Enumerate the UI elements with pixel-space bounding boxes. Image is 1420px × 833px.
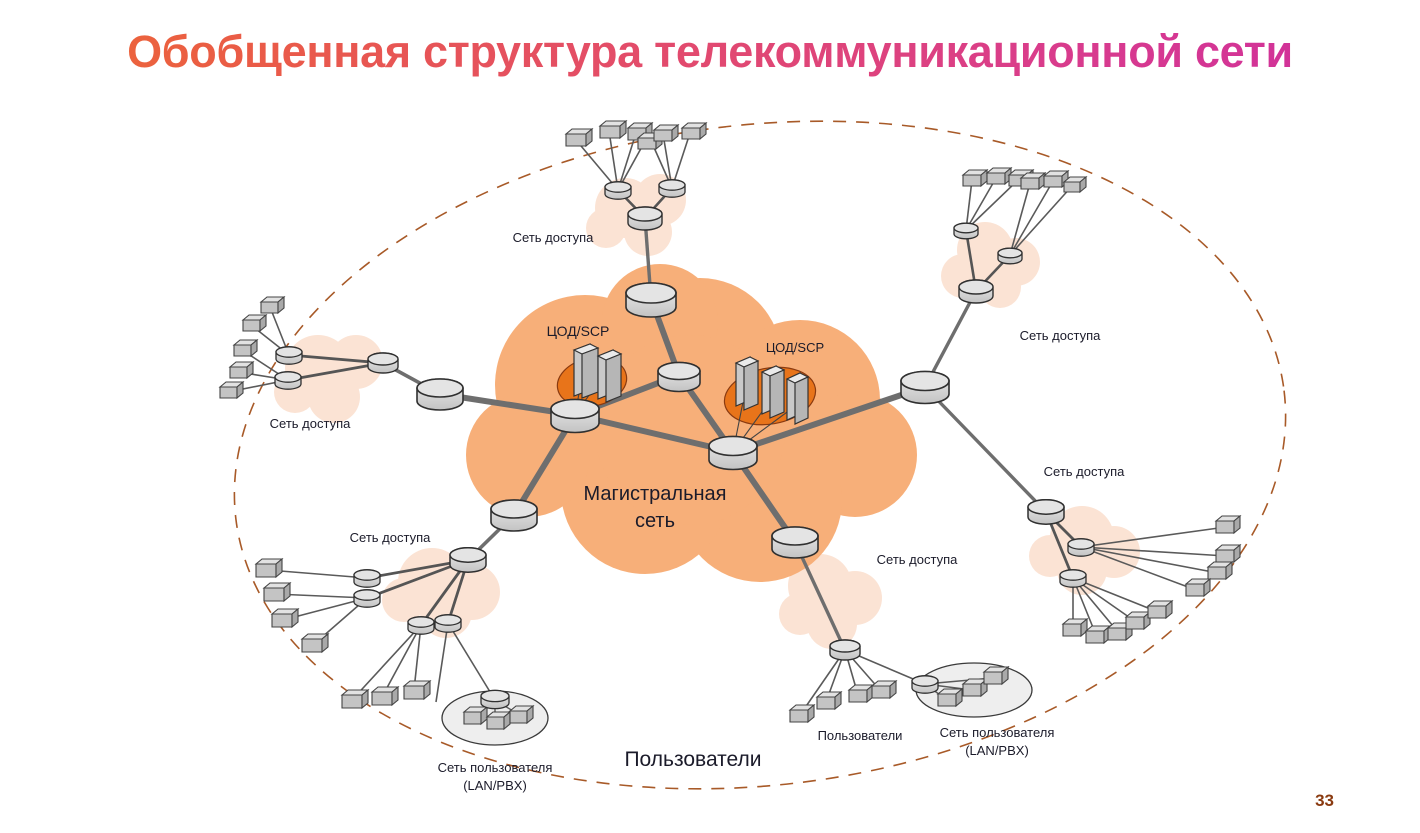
access-network-label-top: Сеть доступа xyxy=(513,230,594,245)
users-label-main: Пользователи xyxy=(624,748,761,771)
lan-host-box xyxy=(938,689,962,706)
router-node xyxy=(658,363,700,392)
access-edge-node xyxy=(435,615,461,632)
user-network-label-line2: (LAN/PBX) xyxy=(463,778,527,793)
host-box xyxy=(963,170,987,186)
host-box xyxy=(872,681,896,698)
access-gateway-node xyxy=(368,353,398,373)
host-box xyxy=(790,705,814,722)
access-gateway-node xyxy=(959,280,993,303)
host-box xyxy=(264,583,290,601)
host-box xyxy=(1216,516,1240,533)
host-box xyxy=(1148,601,1172,618)
access-network-label-right: Сеть доступа xyxy=(1044,464,1125,479)
slide-canvas: Обобщенная структура телекоммуникационно… xyxy=(0,0,1420,833)
router-node xyxy=(709,437,757,470)
host-box xyxy=(1063,619,1087,636)
access-network-label-bottomright: Сеть доступа xyxy=(877,552,958,567)
user-network-label-line1: Сеть пользователя xyxy=(438,760,553,775)
host-box xyxy=(1064,177,1086,192)
access-edge-node xyxy=(998,248,1022,264)
access-gateway-node xyxy=(450,548,486,572)
access-edge-node xyxy=(1060,570,1086,587)
access-edge-node xyxy=(275,372,301,389)
host-box xyxy=(220,382,243,398)
access-network-label-bottomleft: Сеть доступа xyxy=(350,530,431,545)
backbone-label-line2: сеть xyxy=(635,510,675,532)
access-edge-node xyxy=(354,590,380,607)
access-edge-node xyxy=(605,182,631,199)
host-box xyxy=(1126,612,1150,629)
host-box xyxy=(1216,545,1240,562)
access-gateway-node xyxy=(628,207,662,230)
access-edge-node xyxy=(408,617,434,634)
host-box xyxy=(1186,579,1210,596)
host-box xyxy=(817,692,841,709)
host-box xyxy=(654,125,678,141)
host-box xyxy=(256,559,282,577)
host-box xyxy=(372,687,398,705)
lan-host-box xyxy=(984,667,1008,684)
lan-host-box xyxy=(464,707,487,724)
lan-router-node xyxy=(481,690,509,708)
access-edge-node xyxy=(1068,539,1094,556)
host-box xyxy=(230,362,253,378)
backbone-cloud xyxy=(466,264,917,582)
user-network-left: Сеть пользователя (LAN/PBX) xyxy=(438,690,553,793)
host-box xyxy=(404,681,430,699)
lan-host-box xyxy=(510,706,533,723)
access-network-label-left: Сеть доступа xyxy=(270,416,351,431)
host-box xyxy=(849,685,873,702)
router-node xyxy=(491,500,537,531)
host-box xyxy=(1086,626,1110,643)
datacenter-label: ЦОД/SCP xyxy=(766,340,824,355)
server-tower xyxy=(787,373,808,424)
access-edge-node xyxy=(659,180,685,197)
access-network-label-topright: Сеть доступа xyxy=(1020,328,1101,343)
users-label-secondary: Пользователи xyxy=(818,728,903,743)
network-topology-diagram: ЦОД/SCP ЦОД/ xyxy=(0,0,1420,833)
router-node xyxy=(901,372,949,404)
host-box xyxy=(566,129,592,146)
router-node xyxy=(551,400,599,433)
backbone-label-line1: Магистральная xyxy=(584,483,727,505)
access-edge-node xyxy=(354,570,380,587)
datacenter-label: ЦОД/SCP xyxy=(547,323,610,339)
router-node xyxy=(772,527,818,558)
server-tower xyxy=(762,366,784,418)
host-box xyxy=(261,297,284,313)
lan-router-node xyxy=(912,676,938,693)
user-network-label-line1: Сеть пользователя xyxy=(940,725,1055,740)
server-tower xyxy=(598,350,621,402)
host-box xyxy=(600,121,626,138)
host-box xyxy=(682,123,706,139)
lan-host-box xyxy=(487,712,510,729)
page-number: 33 xyxy=(1315,791,1334,811)
access-gateway-node xyxy=(830,640,860,660)
server-tower xyxy=(574,344,598,398)
host-box xyxy=(302,634,328,652)
router-node xyxy=(626,283,676,317)
host-box xyxy=(987,168,1011,184)
host-box xyxy=(243,315,266,331)
host-box xyxy=(1208,562,1232,579)
lan-host-box xyxy=(963,679,987,696)
access-gateway-node xyxy=(1028,500,1064,524)
host-box xyxy=(342,690,368,708)
user-network-label-line2: (LAN/PBX) xyxy=(965,743,1029,758)
access-edge-node xyxy=(276,347,302,364)
host-box xyxy=(234,340,257,356)
router-node xyxy=(417,379,463,410)
host-box xyxy=(1021,173,1045,189)
user-network-right: Сеть пользователя (LAN/PBX) xyxy=(912,663,1054,758)
host-box xyxy=(272,609,298,627)
server-tower xyxy=(736,357,758,410)
access-edge-node xyxy=(954,223,978,239)
